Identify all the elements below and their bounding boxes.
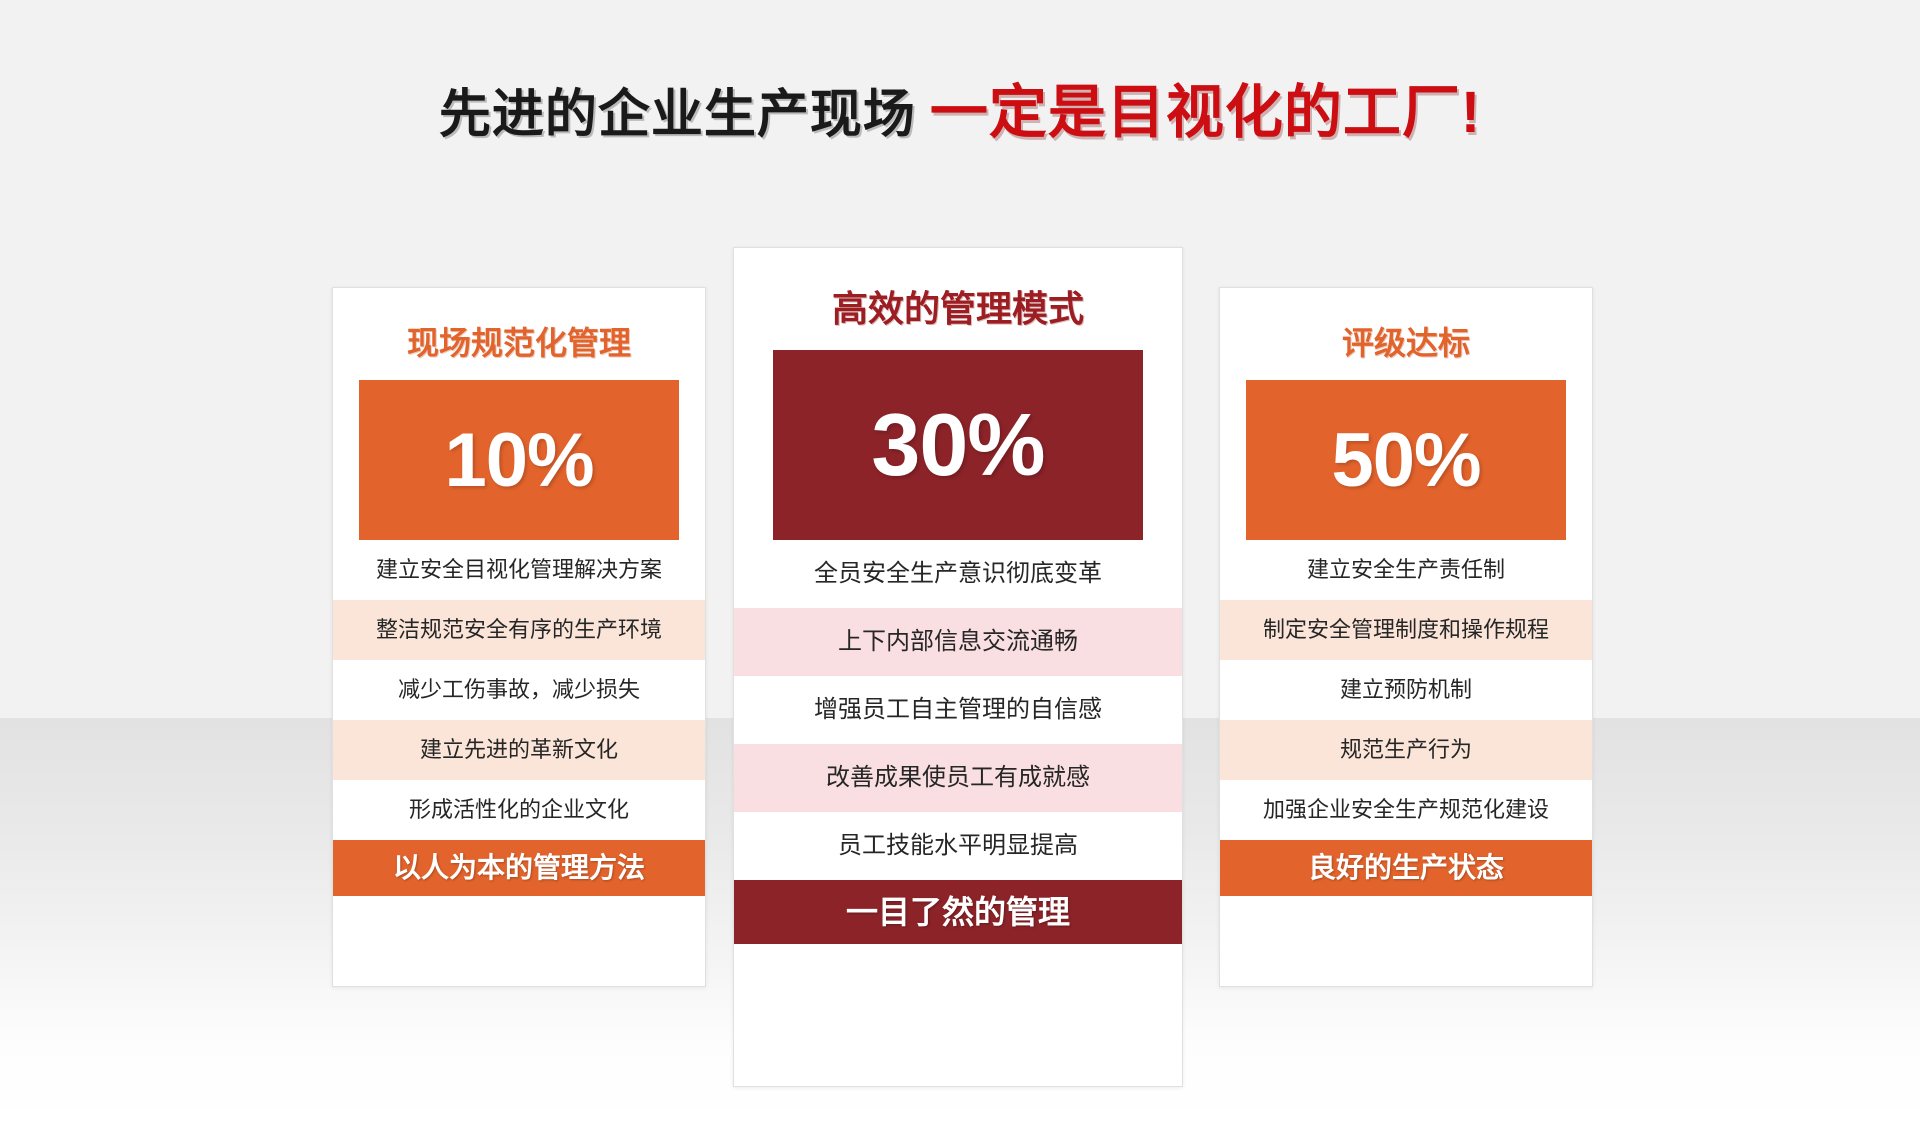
card-middle-row-list: 全员安全生产意识彻底变革 上下内部信息交流通畅 增强员工自主管理的自信感 改善成… — [734, 540, 1182, 880]
list-item: 改善成果使员工有成就感 — [734, 744, 1182, 812]
card-middle-stat-value: 30% — [871, 394, 1044, 496]
list-item: 建立安全目视化管理解决方案 — [333, 540, 705, 600]
card-right-stat-value: 50% — [1331, 417, 1480, 504]
list-item: 规范生产行为 — [1220, 720, 1592, 780]
stat-card-left: 现场规范化管理 10% 建立安全目视化管理解决方案 整洁规范安全有序的生产环境 … — [332, 287, 706, 987]
card-left-stat-block: 10% — [359, 380, 679, 540]
card-left-footer: 以人为本的管理方法 — [333, 840, 705, 896]
list-item: 加强企业安全生产规范化建设 — [1220, 780, 1592, 840]
page-title-black-part: 先进的企业生产现场 — [439, 86, 916, 144]
list-item: 形成活性化的企业文化 — [333, 780, 705, 840]
list-item: 全员安全生产意识彻底变革 — [734, 540, 1182, 608]
card-left-stat-value: 10% — [444, 417, 593, 504]
card-right-row-list: 建立安全生产责任制 制定安全管理制度和操作规程 建立预防机制 规范生产行为 加强… — [1220, 540, 1592, 840]
page-title: 先进的企业生产现场一定是目视化的工厂! — [0, 78, 1920, 148]
list-item: 上下内部信息交流通畅 — [734, 608, 1182, 676]
list-item: 制定安全管理制度和操作规程 — [1220, 600, 1592, 660]
card-left-title: 现场规范化管理 — [333, 288, 705, 380]
stat-card-middle: 高效的管理模式 30% 全员安全生产意识彻底变革 上下内部信息交流通畅 增强员工… — [733, 247, 1183, 1087]
card-left-row-list: 建立安全目视化管理解决方案 整洁规范安全有序的生产环境 减少工伤事故，减少损失 … — [333, 540, 705, 840]
list-item: 建立先进的革新文化 — [333, 720, 705, 780]
page-title-red-part: 一定是目视化的工厂! — [930, 80, 1481, 145]
list-item: 建立安全生产责任制 — [1220, 540, 1592, 600]
card-right-stat-block: 50% — [1246, 380, 1566, 540]
list-item: 增强员工自主管理的自信感 — [734, 676, 1182, 744]
list-item: 减少工伤事故，减少损失 — [333, 660, 705, 720]
card-right-title: 评级达标 — [1220, 288, 1592, 380]
card-middle-footer: 一目了然的管理 — [734, 880, 1182, 944]
stat-card-right: 评级达标 50% 建立安全生产责任制 制定安全管理制度和操作规程 建立预防机制 … — [1219, 287, 1593, 987]
card-right-footer: 良好的生产状态 — [1220, 840, 1592, 896]
list-item: 建立预防机制 — [1220, 660, 1592, 720]
list-item: 整洁规范安全有序的生产环境 — [333, 600, 705, 660]
list-item: 员工技能水平明显提高 — [734, 812, 1182, 880]
card-middle-title: 高效的管理模式 — [734, 248, 1182, 350]
card-middle-stat-block: 30% — [773, 350, 1143, 540]
